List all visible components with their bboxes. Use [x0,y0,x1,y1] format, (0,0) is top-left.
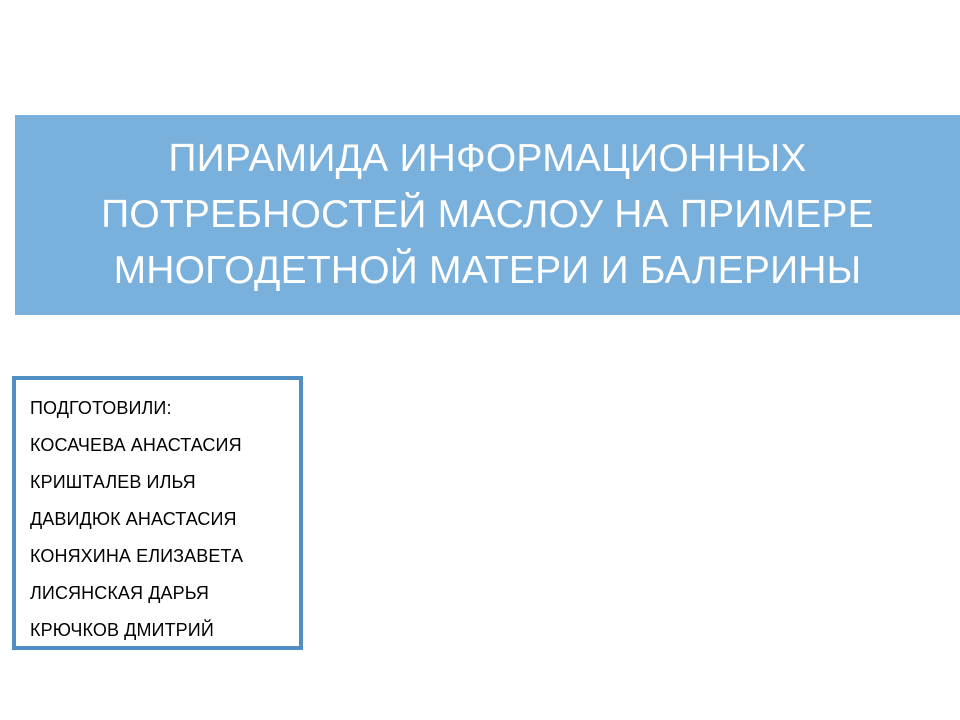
presentation-slide: ПИРАМИДА ИНФОРМАЦИОННЫХ ПОТРЕБНОСТЕЙ МАС… [0,0,960,720]
authors-heading: ПОДГОТОВИЛИ: [30,390,299,427]
author-name-6: КРЮЧКОВ ДМИТРИЙ [30,612,299,649]
title-line-1: ПИРАМИДА ИНФОРМАЦИОННЫХ [168,131,806,187]
author-name-3: ДАВИДЮК АНАСТАСИЯ [30,501,299,538]
author-name-2: КРИШТАЛЕВ ИЛЬЯ [30,464,299,501]
author-name-1: КОСАЧЕВА АНАСТАСИЯ [30,427,299,464]
title-banner: ПИРАМИДА ИНФОРМАЦИОННЫХ ПОТРЕБНОСТЕЙ МАС… [15,115,960,315]
title-line-3: МНОГОДЕТНОЙ МАТЕРИ И БАЛЕРИНЫ [114,243,862,299]
author-name-5: ЛИСЯНСКАЯ ДАРЬЯ [30,575,299,612]
authors-text-box: ПОДГОТОВИЛИ: КОСАЧЕВА АНАСТАСИЯ КРИШТАЛЕ… [12,376,303,650]
author-name-4: КОНЯХИНА ЕЛИЗАВЕТА [30,538,299,575]
title-line-2: ПОТРЕБНОСТЕЙ МАСЛОУ НА ПРИМЕРЕ [101,187,874,243]
